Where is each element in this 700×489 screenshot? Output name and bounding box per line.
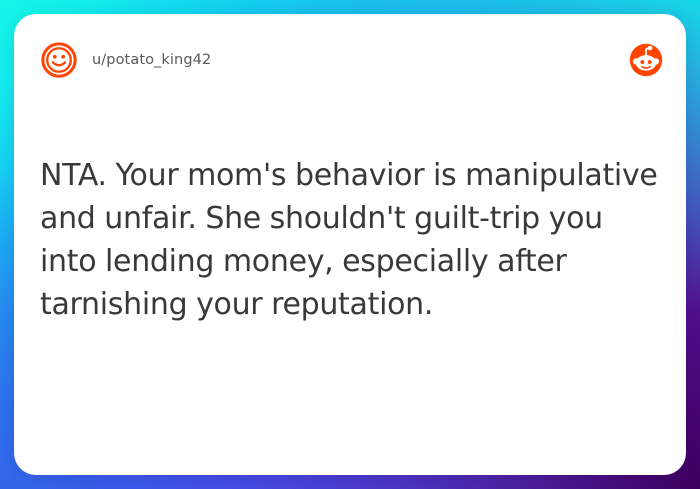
card-header: u/potato_king42 (14, 14, 686, 106)
reddit-comment-card: u/potato_king42 (14, 14, 686, 475)
reddit-brand-button[interactable] (628, 42, 664, 78)
reddit-snoo-icon (628, 42, 664, 78)
avatar[interactable] (40, 41, 78, 79)
comment-text: NTA. Your mom's behavior is manipulative… (40, 154, 660, 326)
username-label: u/potato_king42 (92, 52, 211, 68)
gradient-background: u/potato_king42 (0, 0, 700, 489)
card-body: NTA. Your mom's behavior is manipulative… (40, 154, 660, 326)
smiley-face-icon (40, 41, 78, 79)
